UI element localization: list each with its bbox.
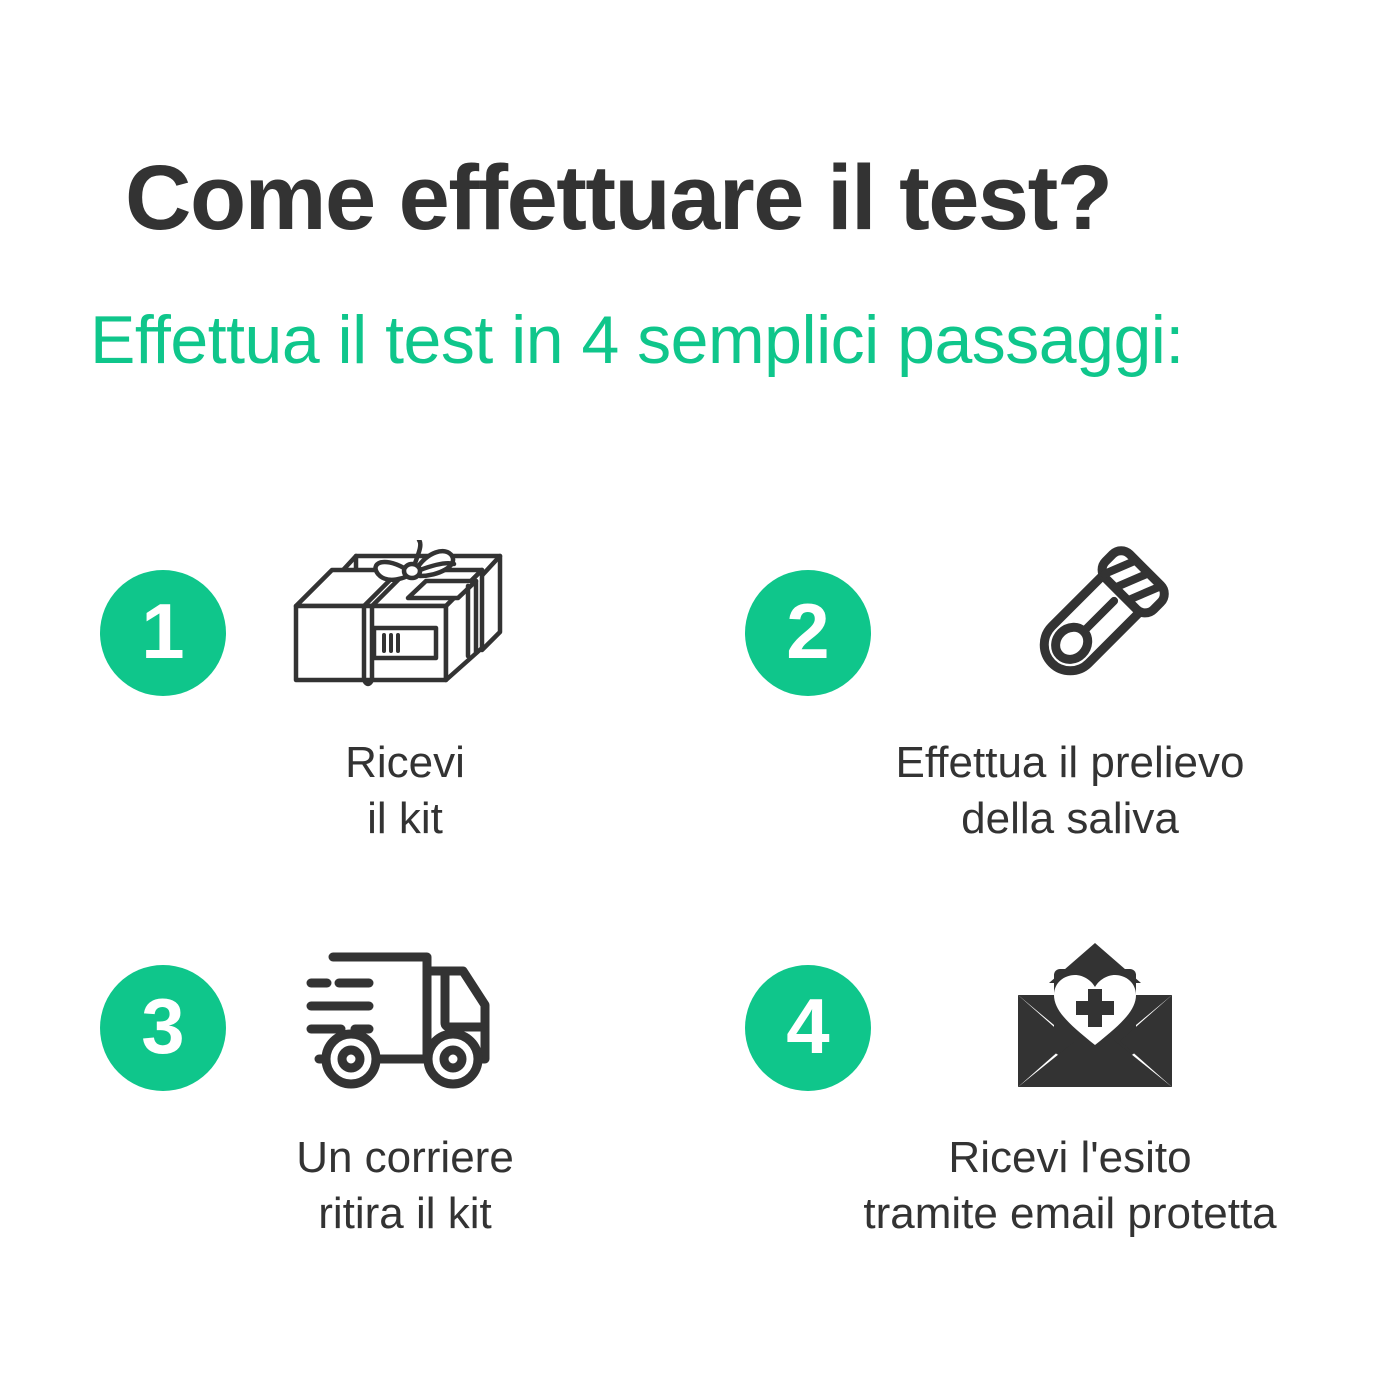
step-badge-3: 3 — [100, 965, 226, 1091]
page-subtitle: Effettua il test in 4 semplici passaggi: — [90, 306, 1184, 374]
step-badge-1: 1 — [100, 570, 226, 696]
step-item-2: 2 Effettua il pr — [700, 500, 1400, 895]
step-label-3: Un corriere ritira il kit — [240, 1130, 570, 1243]
step-label-4: Ricevi l'esito tramite email protetta — [820, 1130, 1320, 1243]
step-number-4: 4 — [786, 987, 829, 1065]
step-badge-4: 4 — [745, 965, 871, 1091]
page-title: Come effettuare il test? — [125, 152, 1111, 244]
delivery-truck-icon — [285, 925, 515, 1105]
step-label-1: Ricevi il kit — [240, 735, 570, 848]
step-number-3: 3 — [141, 987, 184, 1065]
step-item-3: 3 — [0, 895, 700, 1290]
test-tube-icon — [980, 530, 1210, 710]
step-number-2: 2 — [786, 592, 829, 670]
steps-grid: 1 — [0, 500, 1400, 1320]
package-box-icon — [285, 530, 515, 710]
infographic-page: Come effettuare il test? Effettua il tes… — [0, 0, 1400, 1400]
step-badge-2: 2 — [745, 570, 871, 696]
step-item-1: 1 — [0, 500, 700, 895]
step-label-2: Effettua il prelievo della saliva — [820, 735, 1320, 848]
envelope-heart-icon — [980, 925, 1210, 1105]
step-number-1: 1 — [141, 592, 184, 670]
step-item-4: 4 — [700, 895, 1400, 1290]
